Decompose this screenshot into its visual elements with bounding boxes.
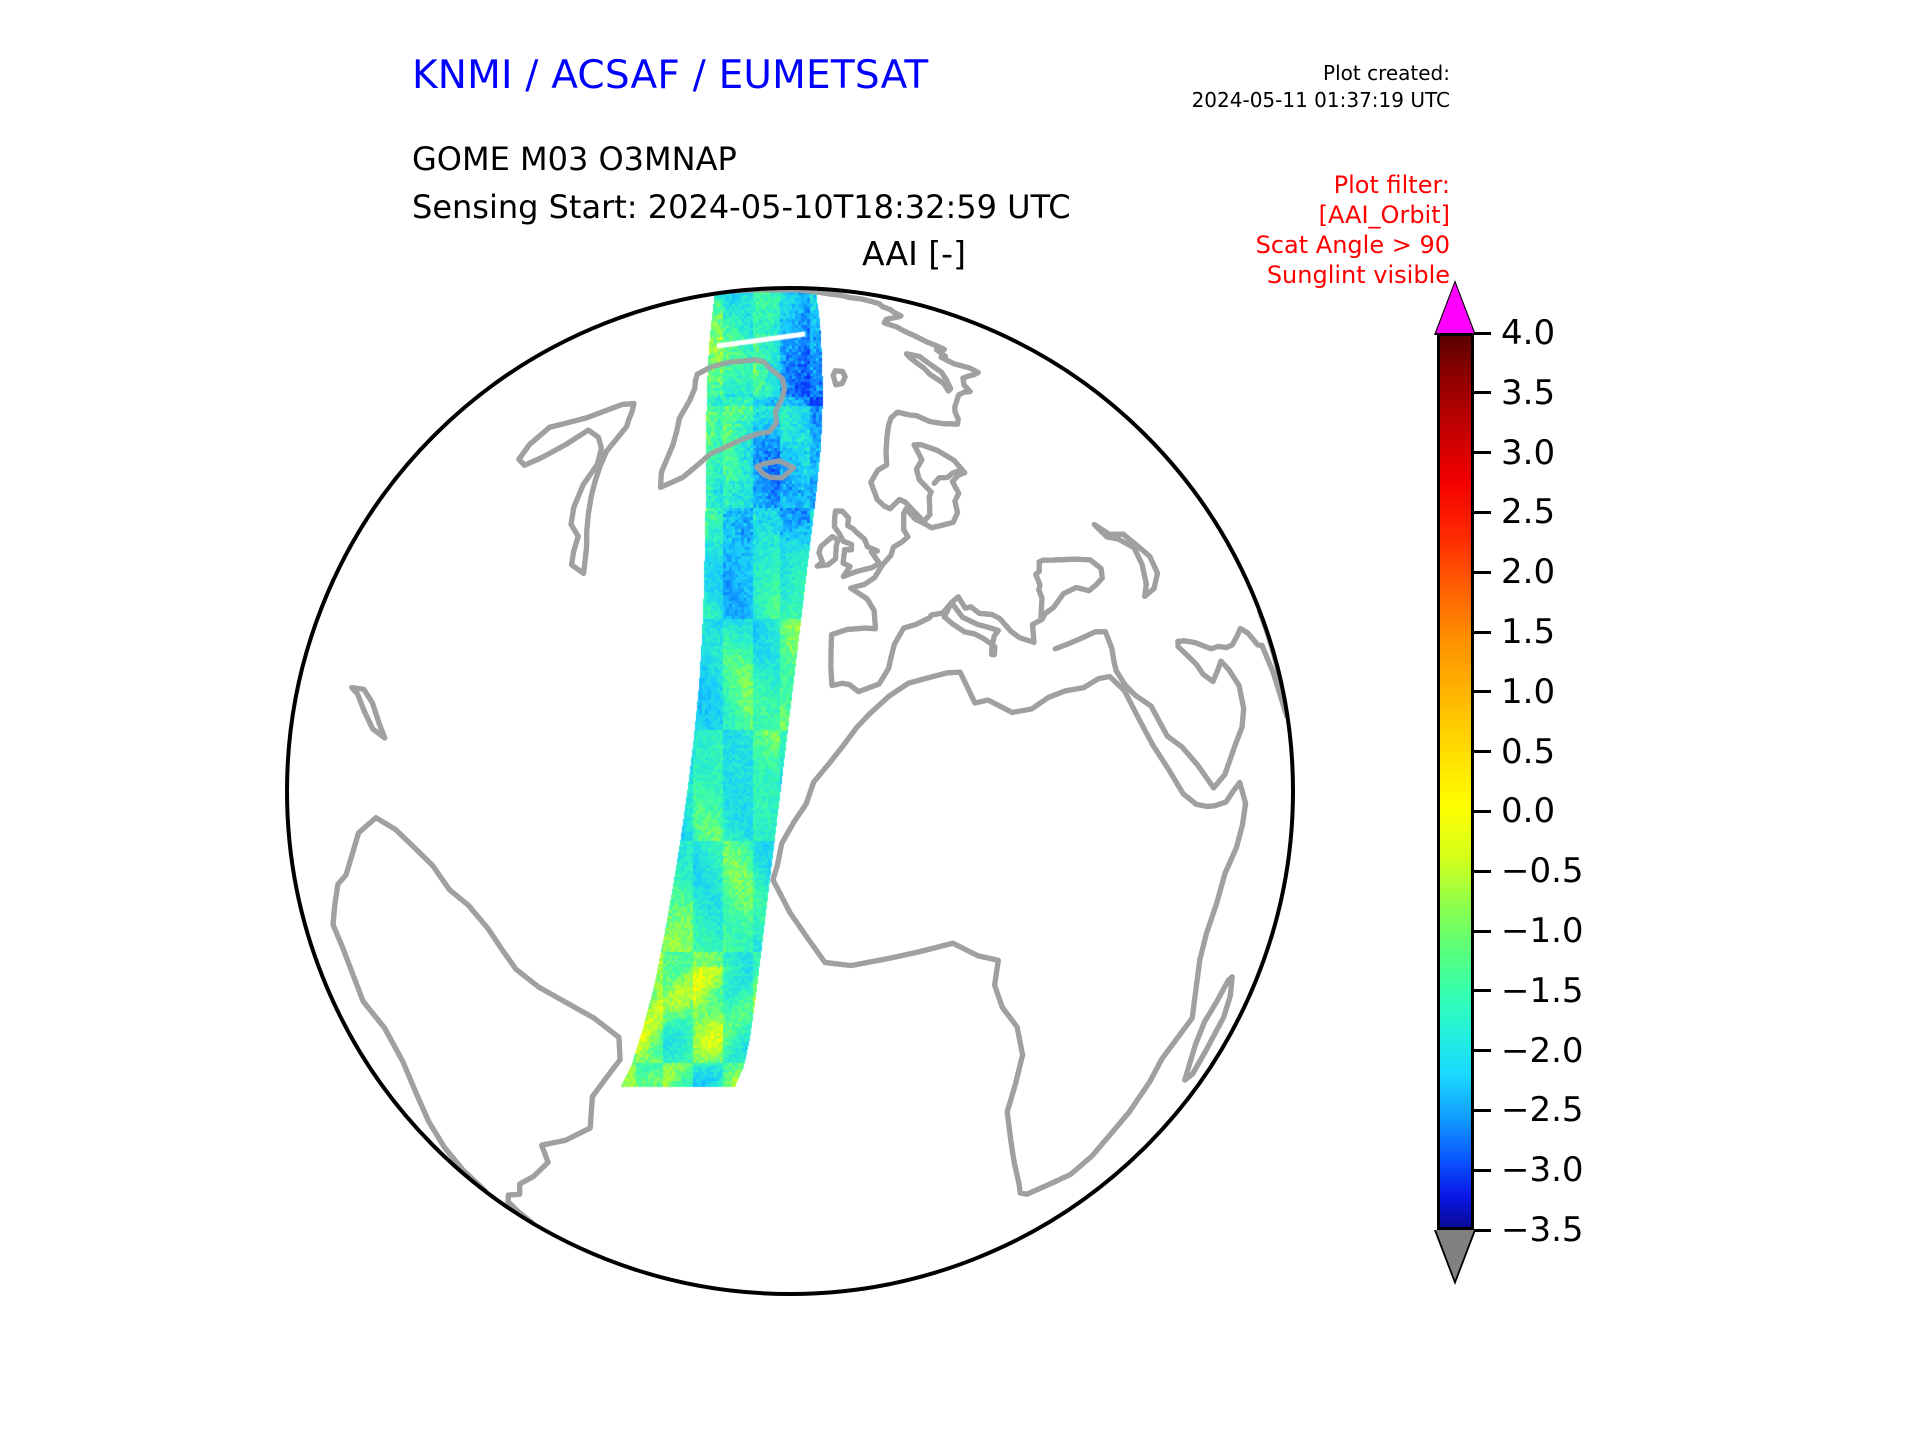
colorbar-tick-label: −2.0 — [1501, 1031, 1584, 1071]
plot-filter-block: Plot filter: [AAI_Orbit] Scat Angle > 90… — [1120, 170, 1450, 290]
plot-filter-scat-angle: Scat Angle > 90 — [1120, 230, 1450, 260]
plot-created-time: 2024-05-11 01:37:19 UTC — [1100, 87, 1450, 114]
colorbar-tick — [1474, 690, 1491, 693]
colorbar-tick-label: −1.5 — [1501, 971, 1584, 1011]
colorbar-tick-label: 1.0 — [1501, 672, 1555, 712]
colorbar-tick-label: 2.5 — [1501, 492, 1555, 532]
colorbar-tick-label: 0.0 — [1501, 791, 1555, 831]
colorbar-tick — [1474, 511, 1491, 514]
colorbar-tick-label: −3.5 — [1501, 1210, 1584, 1250]
satellite-swath — [285, 286, 1295, 1296]
colorbar-tick-label: −3.0 — [1501, 1150, 1584, 1190]
colorbar-tick — [1474, 989, 1491, 992]
sensing-start-label: Sensing Start: 2024-05-10T18:32:59 UTC — [412, 188, 1071, 226]
swath-raster — [285, 286, 1295, 1296]
colorbar-tick — [1474, 1229, 1491, 1232]
colorbar-tick-label: −2.5 — [1501, 1090, 1584, 1130]
colorbar-tick-label: −1.0 — [1501, 911, 1584, 951]
plot-filter-label: Plot filter: — [1120, 170, 1450, 200]
plot-created-label: Plot created: — [1100, 60, 1450, 87]
colorbar-tick — [1474, 1169, 1491, 1172]
colorbar-under-arrow — [1436, 1230, 1474, 1280]
plot-created-block: Plot created: 2024-05-11 01:37:19 UTC — [1100, 60, 1450, 114]
colorbar-tick — [1474, 1109, 1491, 1112]
colorbar-tick — [1474, 332, 1491, 335]
colorbar-tick — [1474, 1049, 1491, 1052]
colorbar-tick-label: 3.0 — [1501, 433, 1555, 473]
colorbar-tick — [1474, 631, 1491, 634]
colorbar-tick — [1474, 930, 1491, 933]
colorbar-tick-label: 1.5 — [1501, 612, 1555, 652]
colorbar-tick-label: −0.5 — [1501, 851, 1584, 891]
colorbar-tick — [1474, 870, 1491, 873]
colorbar: 4.03.53.02.52.01.51.00.50.0−0.5−1.0−1.5−… — [1437, 283, 1474, 1280]
colorbar-over-arrow — [1436, 283, 1474, 333]
plot-filter-name: [AAI_Orbit] — [1120, 200, 1450, 230]
product-title: GOME M03 O3MNAP — [412, 140, 737, 178]
colorbar-tick — [1474, 750, 1491, 753]
globe-map — [285, 286, 1295, 1296]
colorbar-tick-label: 4.0 — [1501, 313, 1555, 353]
colorbar-tick — [1474, 451, 1491, 454]
colorbar-tick — [1474, 391, 1491, 394]
organisation-title: KNMI / ACSAF / EUMETSAT — [412, 53, 928, 98]
plot-canvas: KNMI / ACSAF / EUMETSAT GOME M03 O3MNAP … — [0, 0, 1920, 1440]
colorbar-tick — [1474, 810, 1491, 813]
colorbar-tick-label: 0.5 — [1501, 732, 1555, 772]
colorbar-gradient — [1437, 333, 1474, 1230]
colorbar-tick-label: 2.0 — [1501, 552, 1555, 592]
colorbar-tick — [1474, 571, 1491, 574]
colorbar-tick-label: 3.5 — [1501, 373, 1555, 413]
variable-title: AAI [-] — [862, 234, 966, 273]
